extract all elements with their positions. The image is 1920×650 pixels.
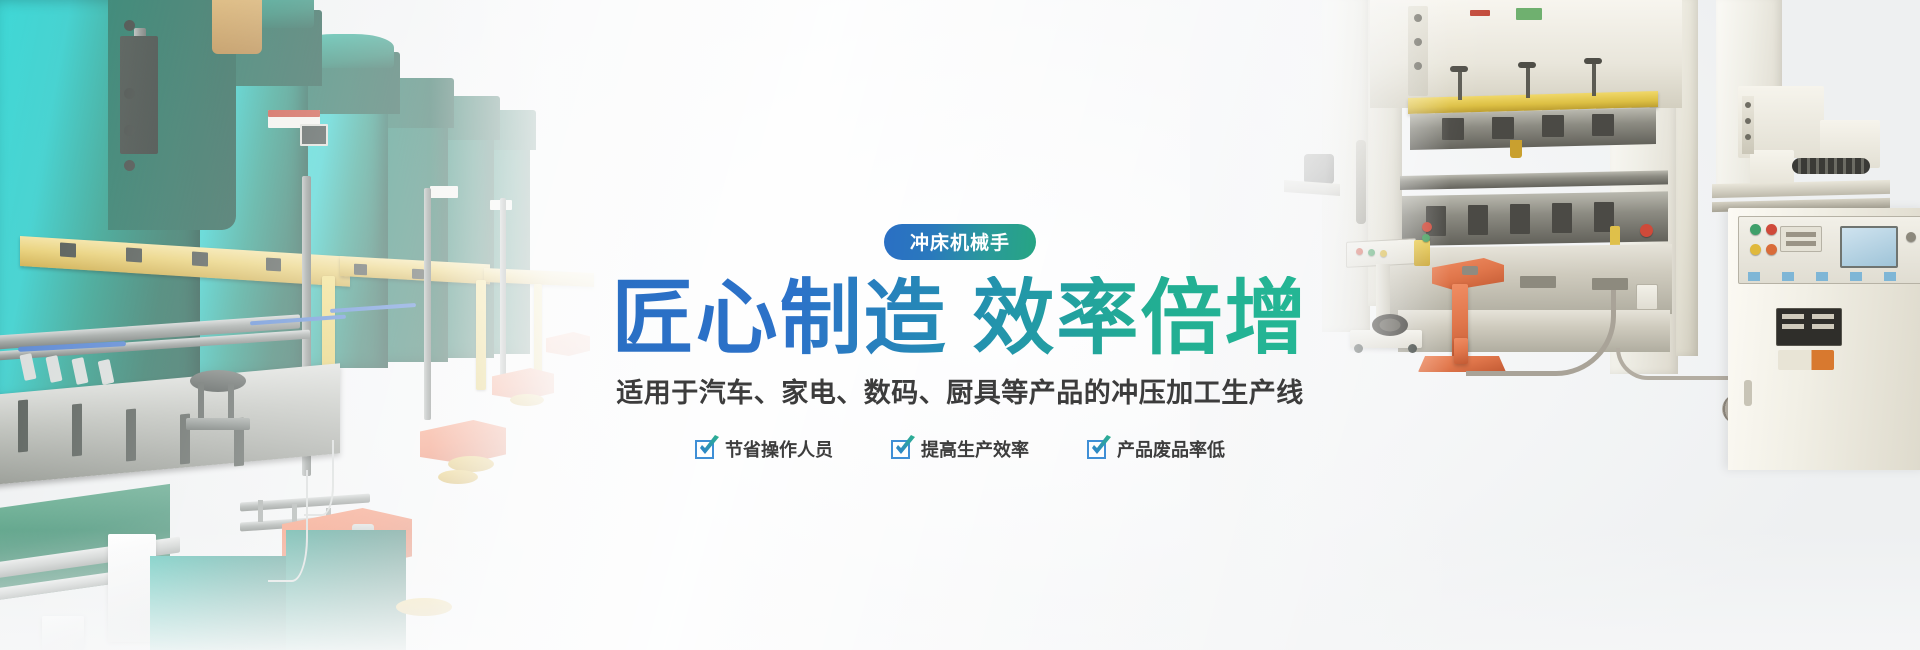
feature-list: 节省操作人员 提高生产效率 <box>695 436 1225 462</box>
feature-item-2: 提高生产效率 <box>891 436 1029 462</box>
banner-content: 冲床机械手 匠心制造 效率倍增 适用于汽车、家电、数码、厨具等产品的冲压加工生产… <box>0 0 1920 650</box>
check-icon <box>891 440 910 459</box>
page-title: 匠心制造 效率倍增 <box>612 276 1309 361</box>
feature-item-3: 产品废品率低 <box>1087 436 1225 462</box>
feature-label: 提高生产效率 <box>921 436 1029 462</box>
check-icon <box>1087 440 1106 459</box>
category-badge: 冲床机械手 <box>884 224 1036 260</box>
feature-item-1: 节省操作人员 <box>695 436 833 462</box>
feature-label: 节省操作人员 <box>725 436 833 462</box>
feature-label: 产品废品率低 <box>1117 436 1225 462</box>
check-icon <box>695 440 714 459</box>
subtitle: 适用于汽车、家电、数码、厨具等产品的冲压加工生产线 <box>616 371 1304 410</box>
hero-banner: 冲床机械手 匠心制造 效率倍增 适用于汽车、家电、数码、厨具等产品的冲压加工生产… <box>0 0 1920 650</box>
